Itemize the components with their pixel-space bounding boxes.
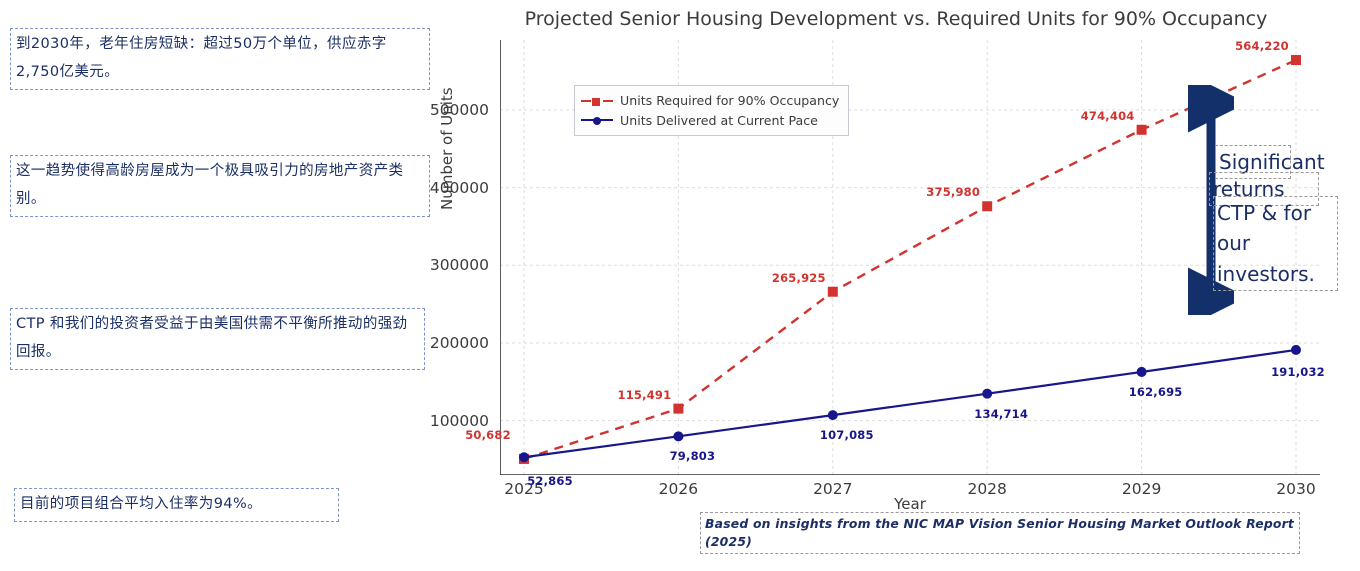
- data-label: 375,980: [926, 185, 980, 199]
- note-housing-shortage: 到2030年，老年住房短缺：超过50万个单位，供应赤字2,750亿美元。: [10, 28, 430, 90]
- y-tick-label: 200000: [430, 334, 498, 352]
- y-tick-label: 100000: [430, 412, 498, 430]
- y-tick-label: 400000: [430, 179, 498, 197]
- x-tick-label: 2028: [967, 480, 1006, 498]
- data-label: 162,695: [1129, 385, 1183, 399]
- legend-label-delivered: Units Delivered at Current Pace: [620, 111, 818, 131]
- source-caption: Based on insights from the NIC MAP Visio…: [700, 512, 1300, 554]
- data-label: 134,714: [974, 407, 1028, 421]
- legend-solid-circle-icon: [581, 114, 613, 126]
- y-tick-label: 300000: [430, 256, 498, 274]
- data-label: 191,032: [1271, 365, 1325, 379]
- x-axis-label: Year: [500, 495, 1320, 513]
- chart-title: Projected Senior Housing Development vs.…: [432, 8, 1360, 30]
- legend-item-required: Units Required for 90% Occupancy: [581, 91, 839, 111]
- data-label: 265,925: [772, 271, 826, 285]
- data-label: 79,803: [670, 449, 716, 463]
- chart-legend: Units Required for 90% Occupancy Units D…: [574, 85, 849, 136]
- legend-dashed-square-icon: [581, 95, 613, 107]
- note-portfolio-occupancy: 目前的项目组合平均入住率为94%。: [14, 488, 339, 522]
- data-label: 115,491: [618, 388, 672, 402]
- data-label: 52,865: [527, 474, 573, 488]
- data-label: 50,682: [465, 428, 511, 442]
- data-label: 474,404: [1081, 109, 1135, 123]
- y-tick-label: 500000: [430, 101, 498, 119]
- legend-label-required: Units Required for 90% Occupancy: [620, 91, 839, 111]
- annotation-ctp-investors: CTP & for our investors.: [1213, 196, 1338, 291]
- x-tick-label: 2030: [1276, 480, 1315, 498]
- note-asset-class: 这一趋势使得高龄房屋成为一个极具吸引力的房地产资产类别。: [10, 155, 430, 217]
- data-label: 564,220: [1235, 39, 1289, 53]
- legend-item-delivered: Units Delivered at Current Pace: [581, 111, 839, 131]
- x-tick-label: 2027: [813, 480, 852, 498]
- note-investor-returns: CTP 和我们的投资者受益于由美国供需不平衡所推动的强劲回报。: [10, 308, 425, 370]
- x-tick-label: 2026: [659, 480, 698, 498]
- data-label: 107,085: [820, 428, 874, 442]
- x-tick-label: 2029: [1122, 480, 1161, 498]
